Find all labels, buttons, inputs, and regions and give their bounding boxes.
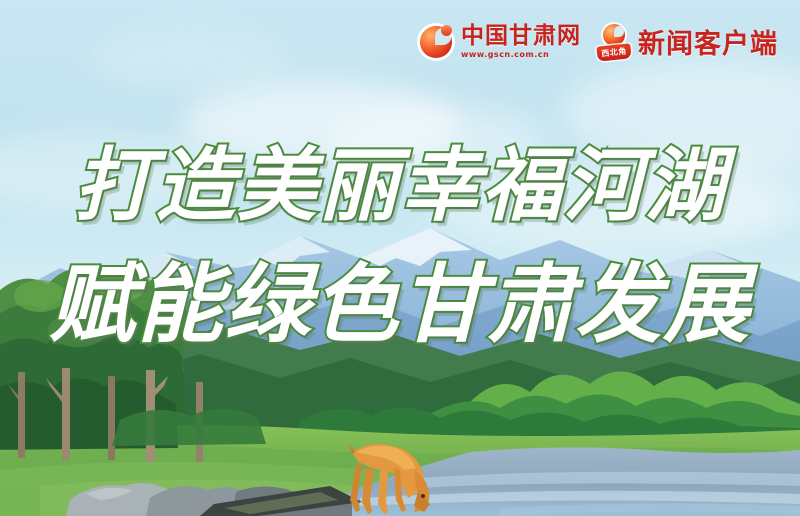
logo-gansu-net-title: 中国甘肃网	[461, 25, 581, 48]
logo-xibeijiao-emblem-text: 西北角	[601, 45, 628, 59]
logo-xibeijiao-app[interactable]: 西北角 新闻客户端	[597, 22, 778, 61]
logo-gansu-net[interactable]: 中国甘肃网 www.gscn.com.cn	[418, 24, 581, 60]
poster-banner: 打造美丽幸福河湖 赋能绿色甘肃发展 中国甘肃网 www.gscn.com.cn …	[0, 0, 800, 516]
logo-xibeijiao-title: 新闻客户端	[638, 22, 778, 61]
landscape-illustration	[0, 0, 800, 516]
logo-bar: 中国甘肃网 www.gscn.com.cn 西北角 新闻客户端	[418, 22, 778, 61]
logo-gansu-net-url: www.gscn.com.cn	[461, 51, 581, 59]
red-swoosh-icon: 西北角	[597, 24, 631, 60]
red-swoosh-icon	[418, 24, 454, 60]
